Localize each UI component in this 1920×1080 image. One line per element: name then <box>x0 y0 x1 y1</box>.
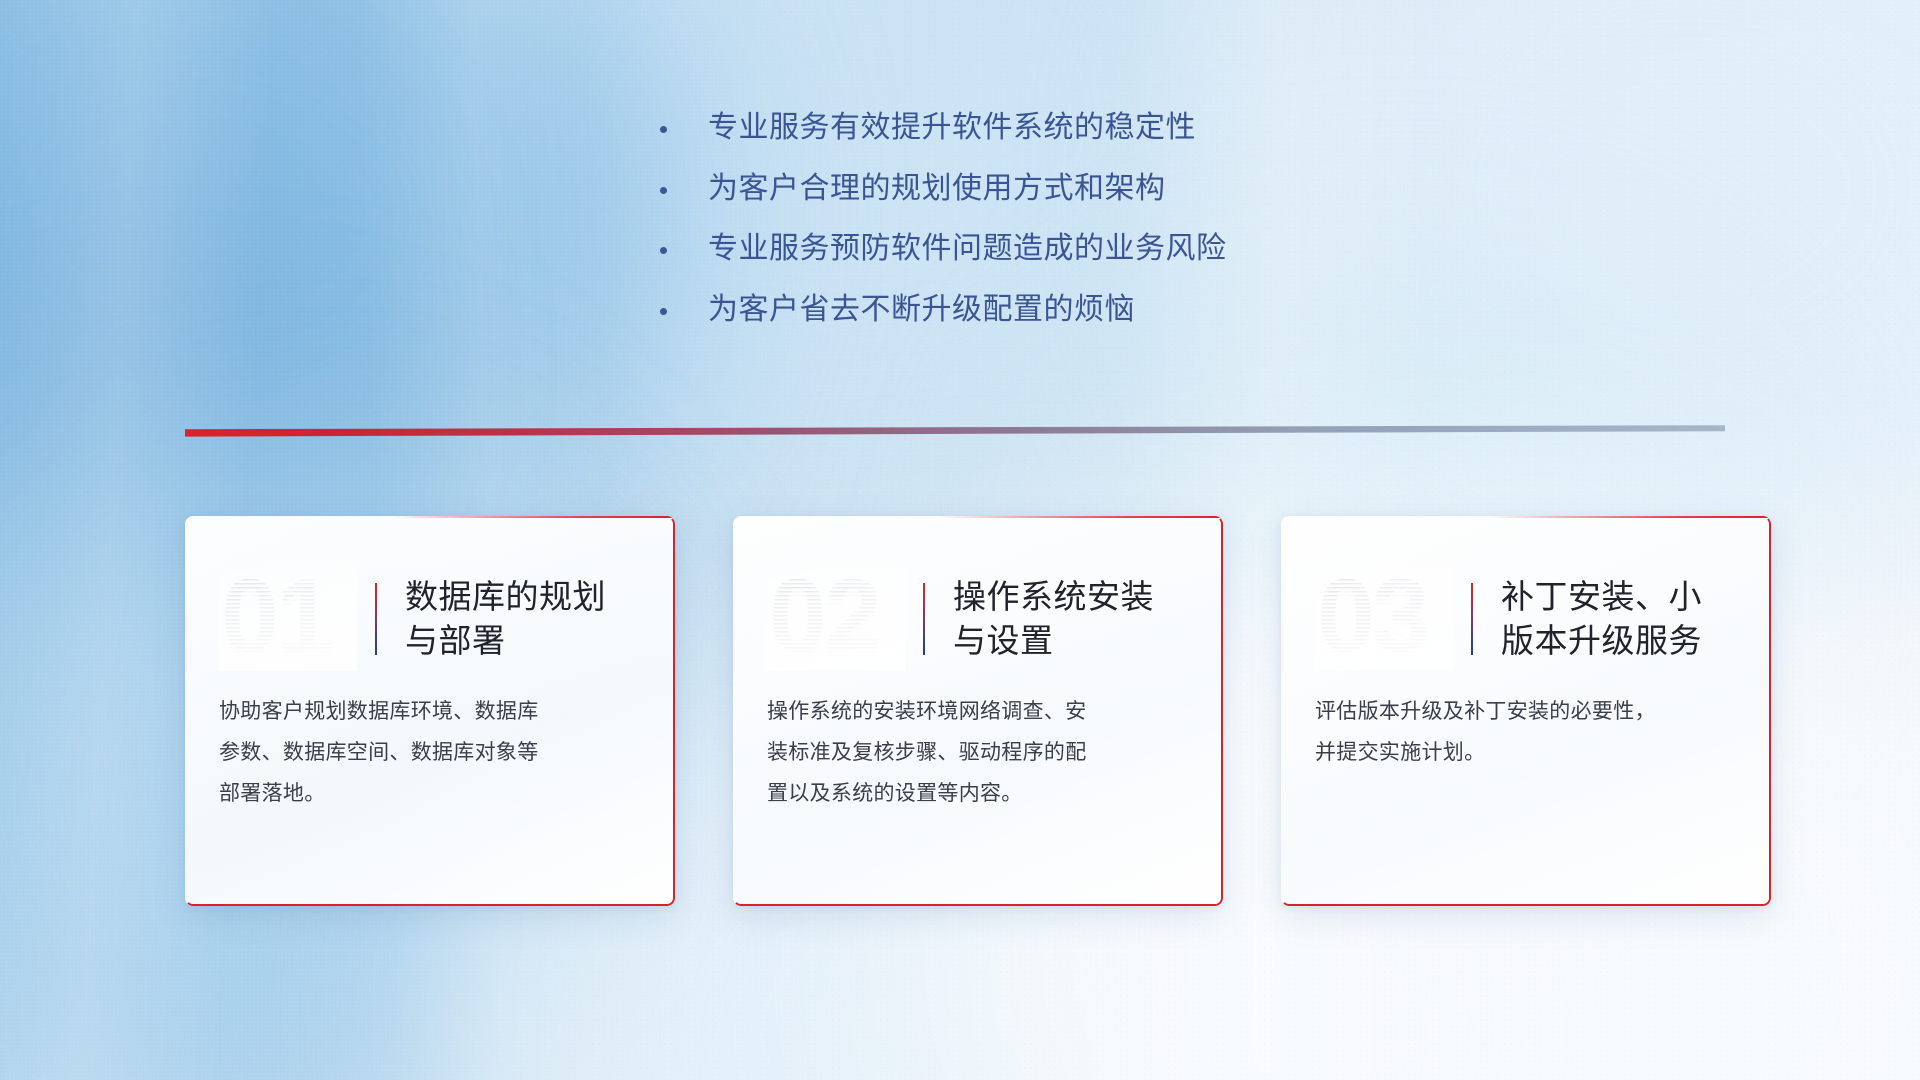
card-bottom-accent <box>1281 904 1506 906</box>
ghost-number-01-icon: 01 01 <box>219 567 357 671</box>
bullet-dot-icon <box>660 187 667 194</box>
bullet-dot-icon <box>660 308 667 315</box>
bullet-item-label: 为客户省去不断升级配置的烦恼 <box>708 290 1135 330</box>
bullet-dot-icon <box>660 126 667 133</box>
bullet-item: 为客户合理的规划使用方式和架构 <box>660 169 1480 209</box>
card-title-rule <box>923 583 925 655</box>
card-body-text: 操作系统的安装环境网络调查、安 装标准及复核步骤、驱动程序的配 置以及系统的设置… <box>733 676 1223 815</box>
card-header: 03 03 补丁安装、小 版本升级服务 <box>1281 516 1771 676</box>
card-bottom-accent <box>733 904 958 906</box>
ghost-number-03-icon: 03 03 <box>1315 567 1453 671</box>
service-card[interactable]: 01 01 数据库的规划 与部署 协助客户规划数据库环境、数据库 参数、数据库空… <box>185 516 675 906</box>
service-card-list: 01 01 数据库的规划 与部署 协助客户规划数据库环境、数据库 参数、数据库空… <box>185 516 1772 906</box>
card-header: 02 02 操作系统安装 与设置 <box>733 516 1223 676</box>
card-bottom-accent <box>185 904 410 906</box>
ghost-number-02-icon: 02 02 <box>767 567 905 671</box>
bullet-dot-icon <box>660 247 667 254</box>
card-title: 数据库的规划 与部署 <box>405 575 606 663</box>
bullet-item-label: 专业服务预防软件问题造成的业务风险 <box>708 229 1227 269</box>
service-card[interactable]: 02 02 操作系统安装 与设置 操作系统的安装环境网络调查、安 装标准及复核步… <box>733 516 1223 906</box>
benefits-bullet-list: 专业服务有效提升软件系统的稳定性 为客户合理的规划使用方式和架构 专业服务预防软… <box>660 108 1480 350</box>
bullet-item-label: 为客户合理的规划使用方式和架构 <box>708 169 1166 209</box>
card-title-rule <box>1471 583 1473 655</box>
card-header: 01 01 数据库的规划 与部署 <box>185 516 675 676</box>
bullet-item: 专业服务预防软件问题造成的业务风险 <box>660 229 1480 269</box>
slide-root: 专业服务有效提升软件系统的稳定性 为客户合理的规划使用方式和架构 专业服务预防软… <box>0 0 1920 1080</box>
bullet-item: 专业服务有效提升软件系统的稳定性 <box>660 108 1480 148</box>
card-title: 操作系统安装 与设置 <box>953 575 1154 663</box>
card-body-text: 协助客户规划数据库环境、数据库 参数、数据库空间、数据库对象等 部署落地。 <box>185 676 675 815</box>
card-title: 补丁安装、小 版本升级服务 <box>1501 575 1702 663</box>
bullet-item-label: 专业服务有效提升软件系统的稳定性 <box>708 108 1196 148</box>
bullet-item: 为客户省去不断升级配置的烦恼 <box>660 290 1480 330</box>
card-body-text: 评估版本升级及补丁安装的必要性， 并提交实施计划。 <box>1281 676 1771 774</box>
card-title-rule <box>375 583 377 655</box>
service-card[interactable]: 03 03 补丁安装、小 版本升级服务 评估版本升级及补丁安装的必要性， 并提交… <box>1281 516 1771 906</box>
